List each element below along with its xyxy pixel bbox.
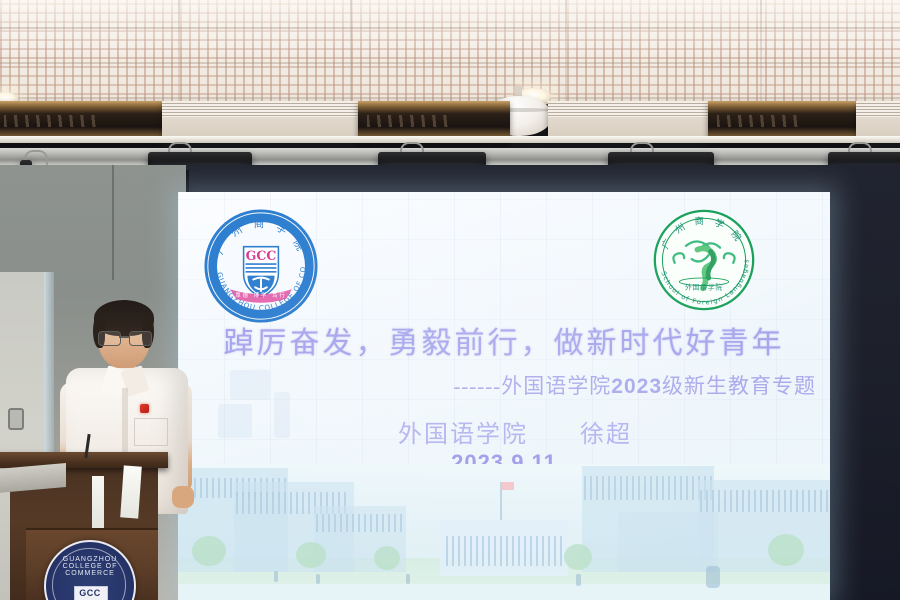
slide-presenter: 外国语学院 徐超 bbox=[178, 414, 830, 449]
glasses-lens bbox=[129, 331, 152, 346]
ceiling-seam bbox=[760, 0, 762, 104]
campus-building-windows bbox=[446, 536, 562, 566]
lectern-podium: GUANGZHOU COLLEGE OF COMMERCE GCC bbox=[0, 452, 168, 600]
ceiling-seam bbox=[0, 97, 900, 99]
guangzhou-college-of-commerce-logo: 广 州 商 学 院 GUANGZHOU COLLEGE OF COMMERCE … bbox=[203, 208, 319, 324]
campus-plaza bbox=[178, 584, 830, 600]
slide-title: 踔厉奋发，勇毅前行，做新时代好青年 bbox=[178, 318, 830, 362]
campus-building-windows bbox=[584, 476, 712, 500]
podium-paper bbox=[120, 465, 142, 518]
right-wall bbox=[830, 165, 900, 600]
party-emblem-pin bbox=[140, 404, 149, 413]
svg-text:外国语学院: 外国语学院 bbox=[685, 282, 723, 291]
campus-tree bbox=[296, 542, 326, 568]
ceiling-seam bbox=[565, 0, 567, 104]
slide-subtitle: ------外国语学院2023级新生教育专题 bbox=[196, 370, 816, 400]
svg-text:厚德 博学 笃行: 厚德 博学 笃行 bbox=[235, 291, 286, 299]
ceiling-seam bbox=[350, 0, 352, 104]
ceiling-seam bbox=[178, 0, 180, 104]
campus-building-windows bbox=[316, 514, 404, 532]
seal-shield-text: GCC bbox=[74, 588, 106, 598]
projection-screen: 广 州 商 学 院 GUANGZHOU COLLEGE OF COMMERCE … bbox=[178, 192, 830, 600]
glasses-lens bbox=[98, 331, 121, 346]
campus-person bbox=[316, 574, 320, 584]
ceiling-air-grille bbox=[162, 101, 358, 139]
ceiling-air-grille bbox=[548, 101, 708, 139]
campus-building bbox=[618, 512, 718, 572]
seal-arc-text: GUANGZHOU COLLEGE OF COMMERCE bbox=[46, 556, 134, 577]
campus-tree bbox=[374, 546, 400, 570]
campus-tree bbox=[768, 534, 804, 566]
glasses-bridge bbox=[119, 336, 129, 338]
shirt-pocket bbox=[134, 418, 168, 446]
svg-text:GCC: GCC bbox=[246, 248, 277, 263]
ceiling-seam bbox=[0, 27, 900, 29]
campus-tree bbox=[564, 544, 592, 570]
door-handle[interactable] bbox=[8, 408, 24, 430]
glasses-icon bbox=[98, 331, 150, 344]
campus-building-windows bbox=[700, 490, 830, 512]
slide-subtitle-suffix: 级新生教育专题 bbox=[662, 374, 816, 398]
ceiling-air-grille bbox=[856, 101, 900, 139]
campus-person bbox=[274, 571, 278, 582]
presenter-hand bbox=[172, 486, 194, 508]
auditorium-scene: 广 州 商 学 院 GUANGZHOU COLLEGE OF COMMERCE … bbox=[0, 0, 900, 600]
wall-seam bbox=[112, 165, 114, 280]
ceiling-seam bbox=[0, 62, 900, 64]
campus-person bbox=[406, 574, 410, 584]
slide-subtitle-prefix: ------外国语学院 bbox=[453, 374, 611, 398]
campus-person bbox=[706, 566, 720, 588]
lighting-rail bbox=[0, 136, 900, 143]
campus-person bbox=[576, 574, 581, 586]
campus-photo bbox=[178, 464, 830, 600]
slide-subtitle-year: 2023 bbox=[611, 375, 662, 398]
campus-flag bbox=[502, 482, 514, 490]
school-of-foreign-languages-logo: 广 州 商 学 院 School of Foreign Languages 外国… bbox=[652, 208, 756, 312]
